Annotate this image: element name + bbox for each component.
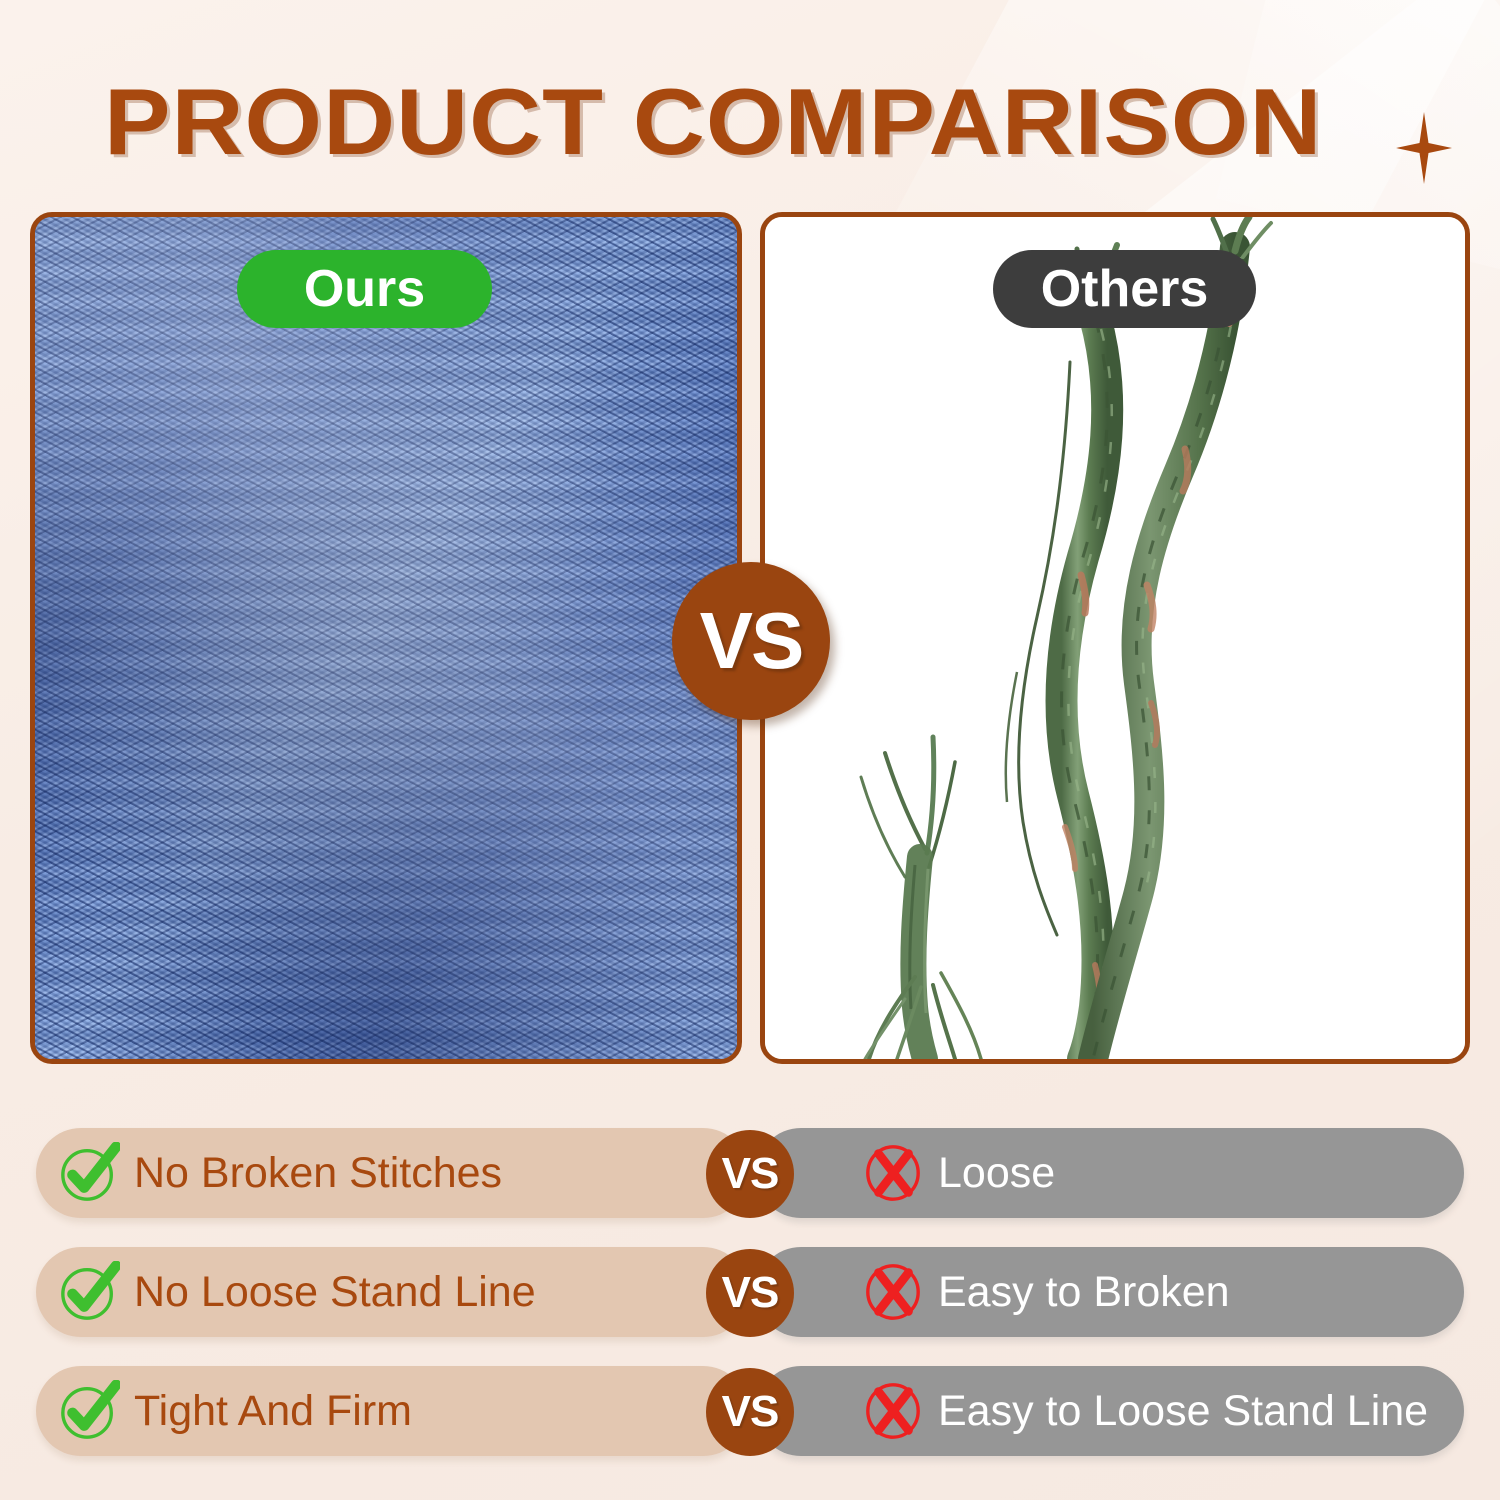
ours-feature-pill: No Loose Stand Line [36,1247,748,1337]
others-feature-pill: Loose [756,1128,1464,1218]
comparison-row: No Broken Stitches VS Loose [0,1128,1500,1218]
ours-image-panel [30,212,742,1064]
others-image-panel [760,212,1470,1064]
others-feature-pill: Easy to Broken [756,1247,1464,1337]
row-vs-badge: VS [706,1130,794,1218]
check-circle-icon [58,1261,120,1323]
row-vs-badge: VS [706,1368,794,1456]
others-feature-pill: Easy to Loose Stand Line [756,1366,1464,1456]
ours-badge: Ours [237,250,492,328]
comparison-row: No Loose Stand Line VS Easy to Broken [0,1247,1500,1337]
ours-feature-text: No Loose Stand Line [134,1268,536,1317]
sparkle-icon [1396,112,1452,184]
ours-feature-text: Tight And Firm [134,1387,412,1436]
rope-illustration [765,217,1465,1059]
cross-circle-icon [862,1261,924,1323]
comparison-rows: No Broken Stitches VS Loose No Loose Sta… [0,1128,1500,1485]
others-badge: Others [993,250,1256,328]
ours-feature-pill: No Broken Stitches [36,1128,748,1218]
cross-circle-icon [862,1380,924,1442]
check-circle-icon [58,1380,120,1442]
check-circle-icon [58,1142,120,1204]
ours-feature-text: No Broken Stitches [134,1149,502,1198]
thread-sheen-overlay [35,217,737,1059]
others-feature-text: Loose [938,1149,1055,1198]
ours-feature-pill: Tight And Firm [36,1366,748,1456]
vs-center-badge: VS [672,562,830,720]
row-vs-badge: VS [706,1249,794,1337]
title-bar: PRODUCT COMPARISON [0,66,1500,186]
comparison-row: Tight And Firm VS Easy to Loose Stand Li… [0,1366,1500,1456]
product-comparison-infographic: PRODUCT COMPARISON [0,0,1500,1500]
twisted-rope-right [1093,217,1271,1059]
frayed-strand-left [861,737,981,1059]
others-feature-text: Easy to Loose Stand Line [938,1387,1428,1436]
others-feature-text: Easy to Broken [938,1268,1230,1317]
frayed-green-rope-image [765,217,1465,1059]
page-title: PRODUCT COMPARISON [104,66,1322,178]
cross-circle-icon [862,1142,924,1204]
